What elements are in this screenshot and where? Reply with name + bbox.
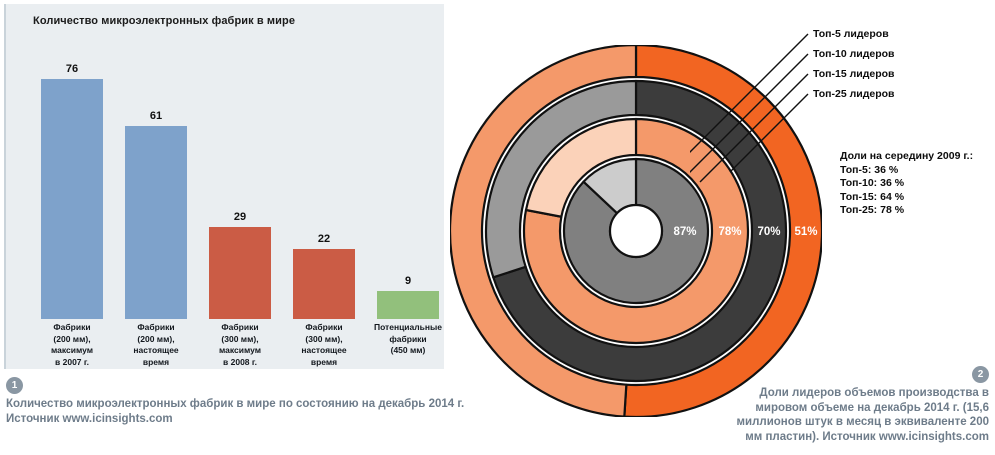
bar-column: 29 (198, 44, 282, 319)
bar-category-label-line: Фабрики (110, 322, 202, 334)
bar-value-label: 22 (318, 233, 330, 245)
bar-category-label: Фабрики(300 мм),максимумв 2008 г. (194, 322, 286, 368)
caption-1-text: Количество микроэлектронных фабрик в мир… (6, 397, 476, 426)
caption-badge-1: 1 (6, 377, 23, 394)
bar-category-label-line: время (110, 357, 202, 369)
callout-label-top5: Топ-5 лидеров (813, 28, 889, 40)
bar-category-label-line: настоящее (278, 345, 370, 357)
donut-percent-label: 78% (718, 226, 741, 238)
bar-category-label-line: Фабрики (194, 322, 286, 334)
donut-percent-label: 51% (794, 226, 817, 238)
bar-category-label-line: в 2008 г. (194, 357, 286, 369)
donut-percent-label: 87% (673, 226, 696, 238)
bar-chart-title: Количество микроэлектронных фабрик в мир… (33, 15, 295, 27)
caption-bar-chart: 1 Количество микроэлектронных фабрик в м… (6, 377, 476, 426)
bar-category-label-line: настоящее (110, 345, 202, 357)
bar-chart-category-labels: Фабрики(200 мм),максимумв 2007 г.Фабрики… (18, 322, 438, 368)
bar-category-label: Фабрики(200 мм),максимумв 2007 г. (26, 322, 118, 368)
bar-value-label: 61 (150, 110, 162, 122)
bar-rect (41, 79, 103, 319)
shares-row-top5: Топ-5: 36 % (840, 164, 973, 178)
callout-label-top10: Топ-10 лидеров (813, 48, 895, 60)
donut-chart: 51%70%78%87% (450, 45, 822, 417)
bar-category-label-line: максимум (26, 345, 118, 357)
bar-value-label: 76 (66, 63, 78, 75)
bar-value-label: 9 (405, 275, 411, 287)
bar-column: 22 (282, 44, 366, 319)
bar-rect (293, 249, 355, 319)
bar-category-label-line: (200 мм), (110, 334, 202, 346)
bar-category-label-line: время (278, 357, 370, 369)
bar-category-label: Фабрики(300 мм),настоящеевремя (278, 322, 370, 368)
bar-rect (209, 227, 271, 319)
shares-row-top25: Топ-25: 78 % (840, 204, 973, 218)
bar-category-label-line: (450 мм) (362, 345, 454, 357)
bar-category-label-line: (200 мм), (26, 334, 118, 346)
caption-2-text: Доли лидеров объемов производства в миро… (731, 386, 989, 444)
shares-row-top15: Топ-15: 64 % (840, 191, 973, 205)
bar-category-label: Потенциальныефабрики(450 мм) (362, 322, 454, 357)
caption-donut-chart: 2 Доли лидеров объемов производства в ми… (731, 366, 989, 444)
bar-value-label: 29 (234, 211, 246, 223)
bar-column: 9 (366, 44, 450, 319)
bar-rect (125, 126, 187, 319)
shares-title: Доли на середину 2009 г.: (840, 150, 973, 164)
bar-category-label-line: максимум (194, 345, 286, 357)
bar-category-label-line: (300 мм), (194, 334, 286, 346)
bar-category-label-line: фабрики (362, 334, 454, 346)
bar-category-label-line: в 2007 г. (26, 357, 118, 369)
bar-category-label-line: Потенциальные (362, 322, 454, 334)
donut-center-hole (610, 205, 662, 257)
bar-chart-panel: Количество микроэлектронных фабрик в мир… (4, 4, 444, 369)
bar-column: 76 (30, 44, 114, 319)
donut-svg: 51%70%78%87% (450, 45, 822, 417)
bar-category-label-line: Фабрики (26, 322, 118, 334)
bar-category-label: Фабрики(200 мм),настоящеевремя (110, 322, 202, 368)
callout-label-top25: Топ-25 лидеров (813, 88, 895, 100)
callout-label-top15: Топ-15 лидеров (813, 68, 895, 80)
donut-percent-label: 70% (757, 226, 780, 238)
bar-category-label-line: (300 мм), (278, 334, 370, 346)
bar-category-label-line: Фабрики (278, 322, 370, 334)
caption-badge-2: 2 (972, 366, 989, 383)
shares-2009-box: Доли на середину 2009 г.: Топ-5: 36 % То… (840, 150, 973, 218)
shares-row-top10: Топ-10: 36 % (840, 177, 973, 191)
bar-rect (377, 291, 439, 319)
bar-chart-plot-area: 766129229 (18, 44, 438, 319)
bar-column: 61 (114, 44, 198, 319)
